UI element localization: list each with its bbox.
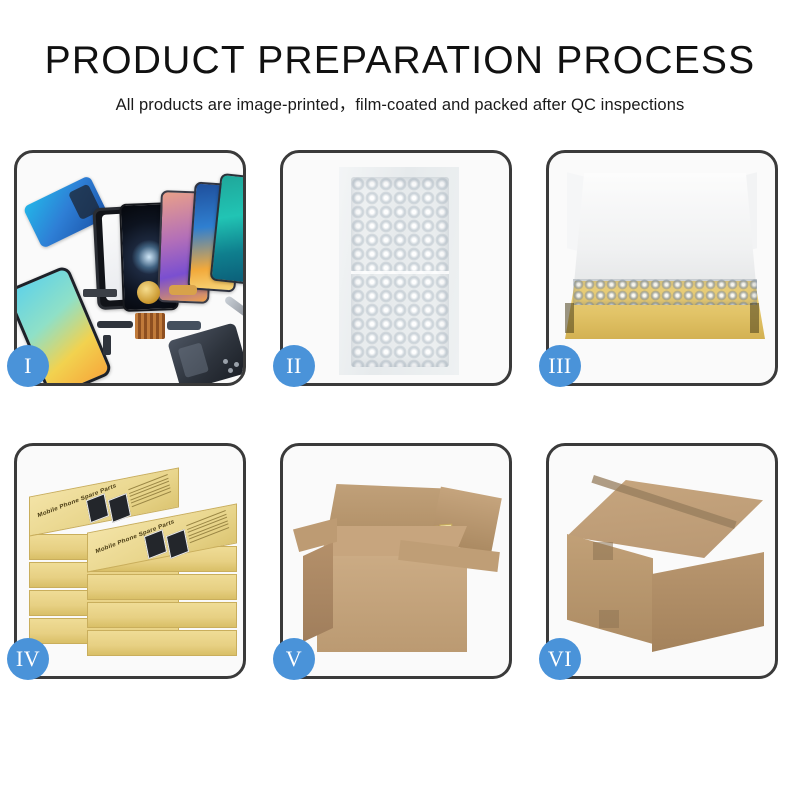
- phone-parts-illustration: [17, 153, 243, 383]
- box-spec-lines-top: [128, 474, 171, 510]
- gold-coil-part: [137, 281, 160, 304]
- box-stack: Mobile Phone Spare Parts Mobile Phone Sp…: [25, 468, 241, 664]
- bubble-pouch-illustration: [283, 153, 509, 383]
- step-badge-3: III: [539, 345, 581, 387]
- copper-chip-part: [135, 313, 165, 339]
- process-step-2: II: [267, 148, 533, 391]
- step-5-panel: [280, 443, 512, 679]
- step-badge-1: I: [7, 345, 49, 387]
- step-badge-6: VI: [539, 638, 581, 680]
- process-step-6: VI: [533, 441, 799, 684]
- bubble-pouch: [339, 167, 459, 375]
- step-3-panel: [546, 150, 778, 386]
- box-spec-lines-front: [186, 510, 229, 546]
- stacked-box-right-4: [87, 602, 237, 628]
- box-notch-left: [565, 303, 574, 333]
- step-6-panel: [546, 443, 778, 679]
- carton-front-face: [317, 556, 467, 652]
- page-header: PRODUCT PREPARATION PROCESS All products…: [0, 0, 800, 117]
- step-4-panel: Mobile Phone Spare Parts Mobile Phone Sp…: [14, 443, 246, 679]
- page-title: PRODUCT PREPARATION PROCESS: [0, 38, 800, 84]
- flex-cable-3: [167, 321, 201, 330]
- open-carton-illustration: [283, 446, 509, 676]
- carton-left-face: [303, 542, 333, 642]
- speaker-part: [83, 289, 117, 297]
- flex-cable-1: [97, 321, 133, 328]
- carton-tab-lower: [599, 610, 619, 628]
- screws-group: [223, 359, 245, 373]
- process-step-5: V: [267, 441, 533, 684]
- process-step-4: Mobile Phone Spare Parts Mobile Phone Sp…: [1, 441, 267, 684]
- carton-tab-upper: [593, 542, 613, 560]
- page-subtitle: All products are image-printed，film-coat…: [0, 93, 800, 117]
- sealed-carton-side: [652, 552, 764, 652]
- box-lid-open: [573, 173, 757, 295]
- pouch-seam: [351, 271, 449, 274]
- bubble-wrap-in-box: [573, 279, 757, 305]
- open-box-illustration: [549, 153, 775, 383]
- flex-cable-2: [103, 335, 111, 355]
- stacked-box-right-5: [87, 630, 237, 656]
- sealed-carton-illustration: [549, 446, 775, 676]
- back-housing-part: [167, 322, 246, 386]
- step-2-panel: [280, 150, 512, 386]
- box-screen-image-top-2: [108, 493, 131, 523]
- process-step-3: III: [533, 148, 799, 391]
- stacked-box-right-3: [87, 574, 237, 600]
- tweezers-tool: [224, 295, 246, 319]
- stacked-boxes-illustration: Mobile Phone Spare Parts Mobile Phone Sp…: [17, 446, 243, 676]
- process-step-1: I: [1, 148, 267, 391]
- process-step-grid: I II III: [0, 148, 800, 684]
- step-badge-2: II: [273, 345, 315, 387]
- step-1-panel: [14, 150, 246, 386]
- step-badge-5: V: [273, 638, 315, 680]
- step-badge-4: IV: [7, 638, 49, 680]
- flex-cable-4: [169, 285, 197, 295]
- box-notch-right: [750, 303, 759, 333]
